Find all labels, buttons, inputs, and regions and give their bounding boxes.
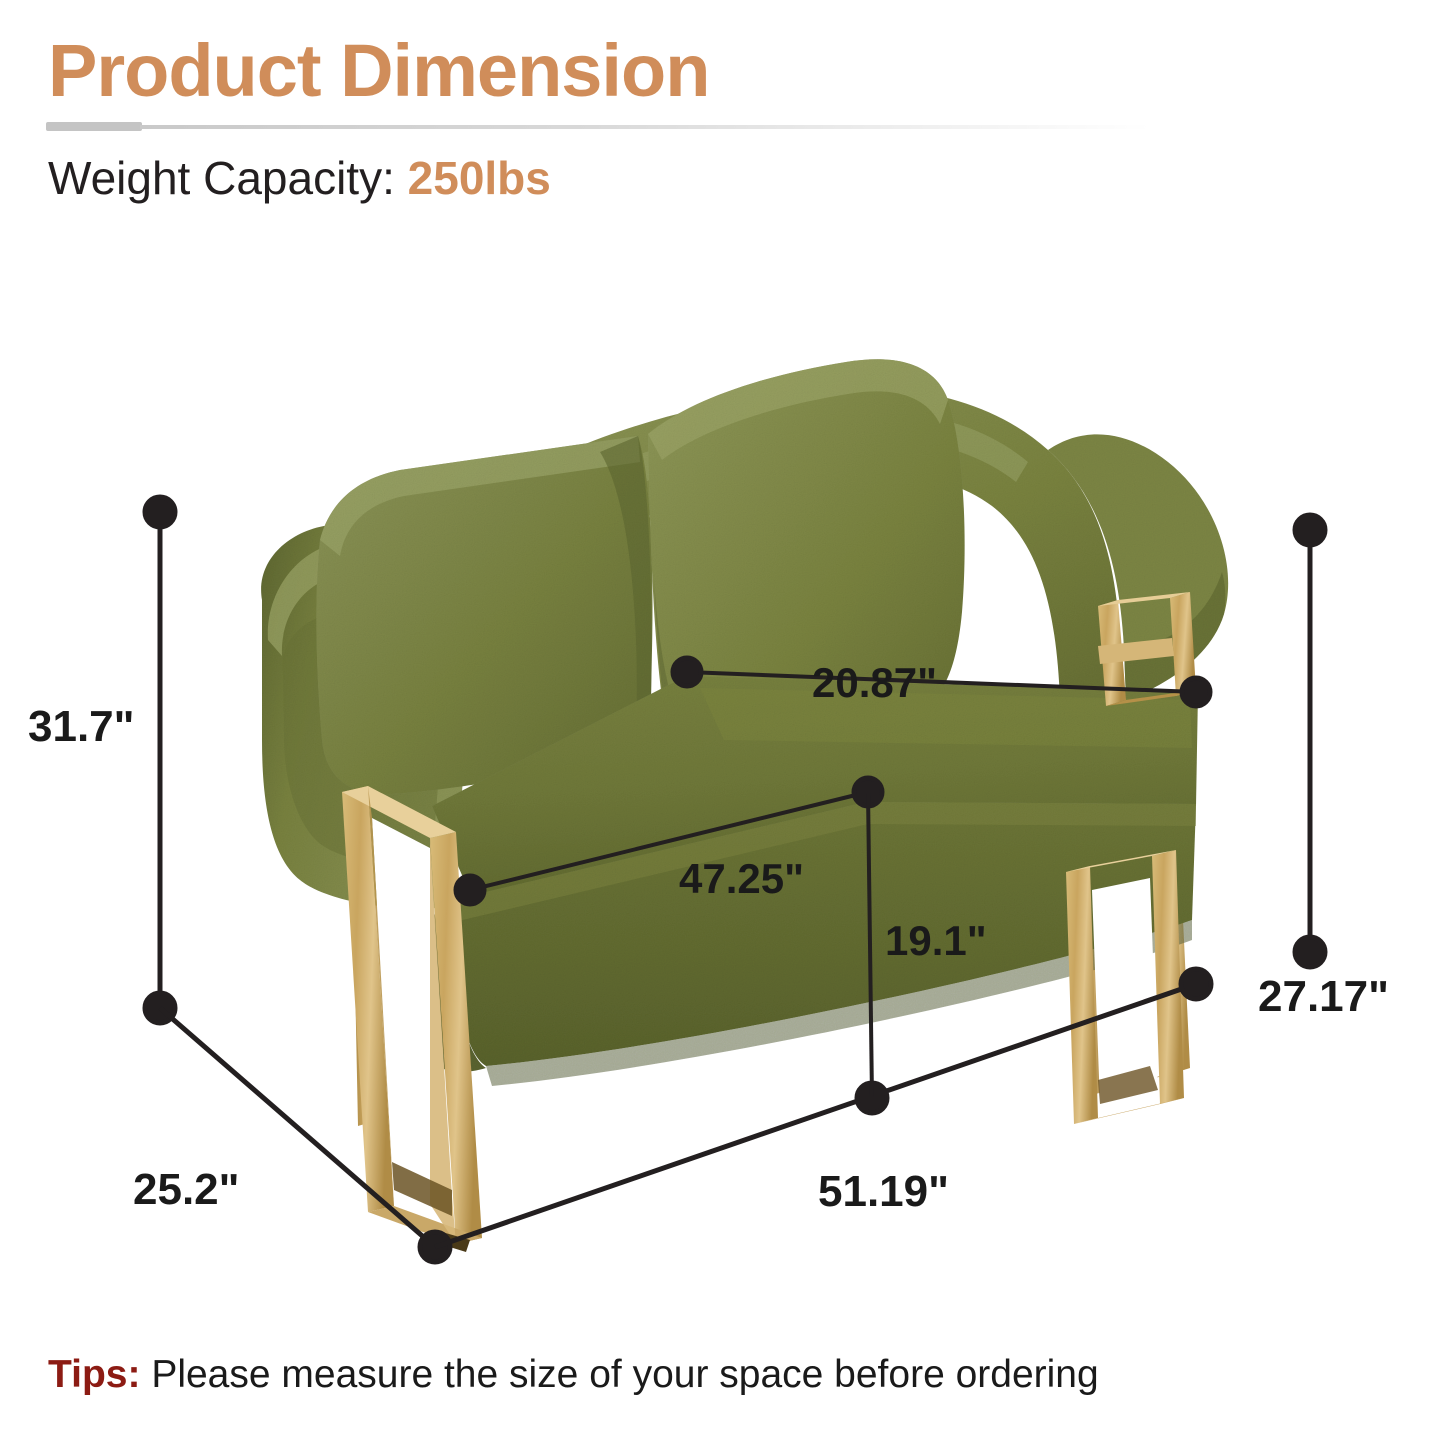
dimension-label-seat-width: 47.25": [679, 858, 804, 900]
dimension-label-overall-depth: 25.2": [133, 1168, 240, 1212]
tips-note: Tips: Please measure the size of your sp…: [48, 1355, 1099, 1394]
dimension-label-back-height: 27.17": [1258, 975, 1389, 1019]
dim-dot-back-top: [1295, 515, 1325, 545]
dimension-label-overall-width: 51.19": [818, 1170, 949, 1214]
tips-label: Tips:: [48, 1353, 140, 1396]
dimension-label-height: 31.7": [28, 705, 135, 749]
dim-dot-seat-depth-end: [1182, 678, 1210, 706]
dimension-label-seat-depth: 20.87": [812, 662, 937, 704]
dimension-label-seat-height: 19.1": [885, 920, 987, 962]
sofa-illustration: [0, 0, 1445, 1445]
tips-text: Please measure the size of your space be…: [151, 1353, 1098, 1396]
dim-dot-back-bottom: [1295, 937, 1325, 967]
sofa-leg-front-right: [1066, 850, 1184, 1124]
dim-dot-width-end: [1181, 969, 1211, 999]
dim-dot-height-top: [145, 497, 175, 527]
dim-dot-seat-depth-start: [673, 658, 701, 686]
dim-dot-seat-width-start: [456, 876, 484, 904]
product-dimension-infographic: Product Dimension Weight Capacity: 250lb…: [0, 0, 1445, 1445]
